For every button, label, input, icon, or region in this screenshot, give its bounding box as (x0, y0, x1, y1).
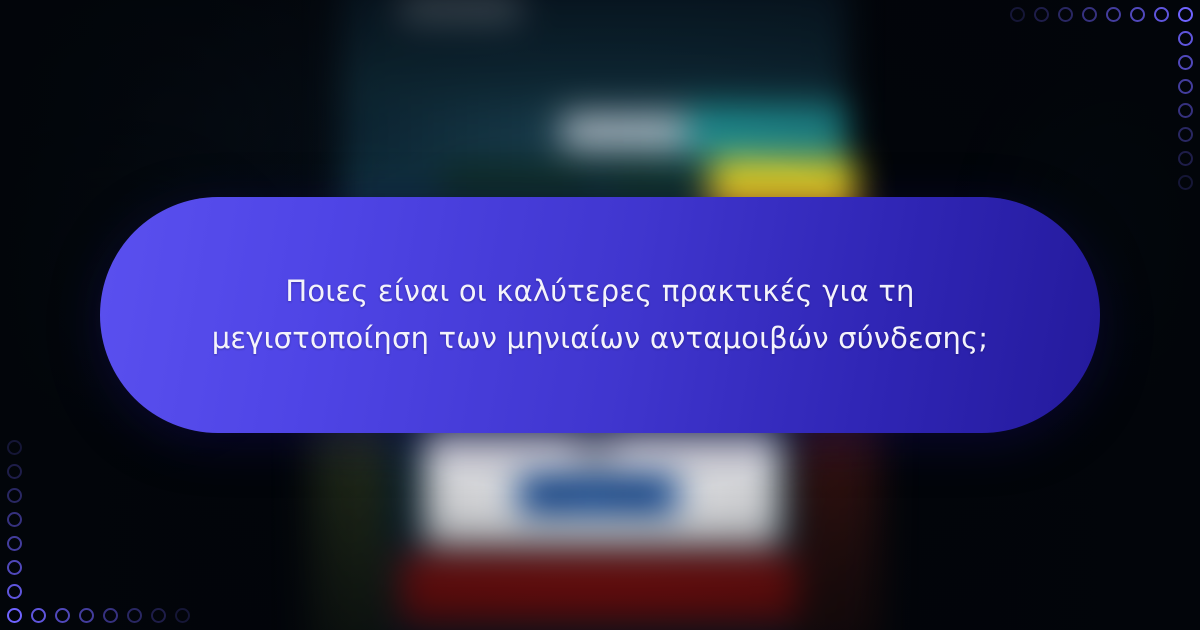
quote-line-1: Ποιες είναι οι καλύτερες πρακτικές για τ… (160, 268, 1040, 315)
quote-line-2: μεγιστοποίηση των μηνιαίων ανταμοιβών σύ… (160, 315, 1040, 362)
quote-card: Ποιες είναι οι καλύτερες πρακτικές για τ… (100, 197, 1100, 433)
quote-text: Ποιες είναι οι καλύτερες πρακτικές για τ… (160, 268, 1040, 362)
share-card-canvas: Ποιες είναι οι καλύτερες πρακτικές για τ… (0, 0, 1200, 630)
